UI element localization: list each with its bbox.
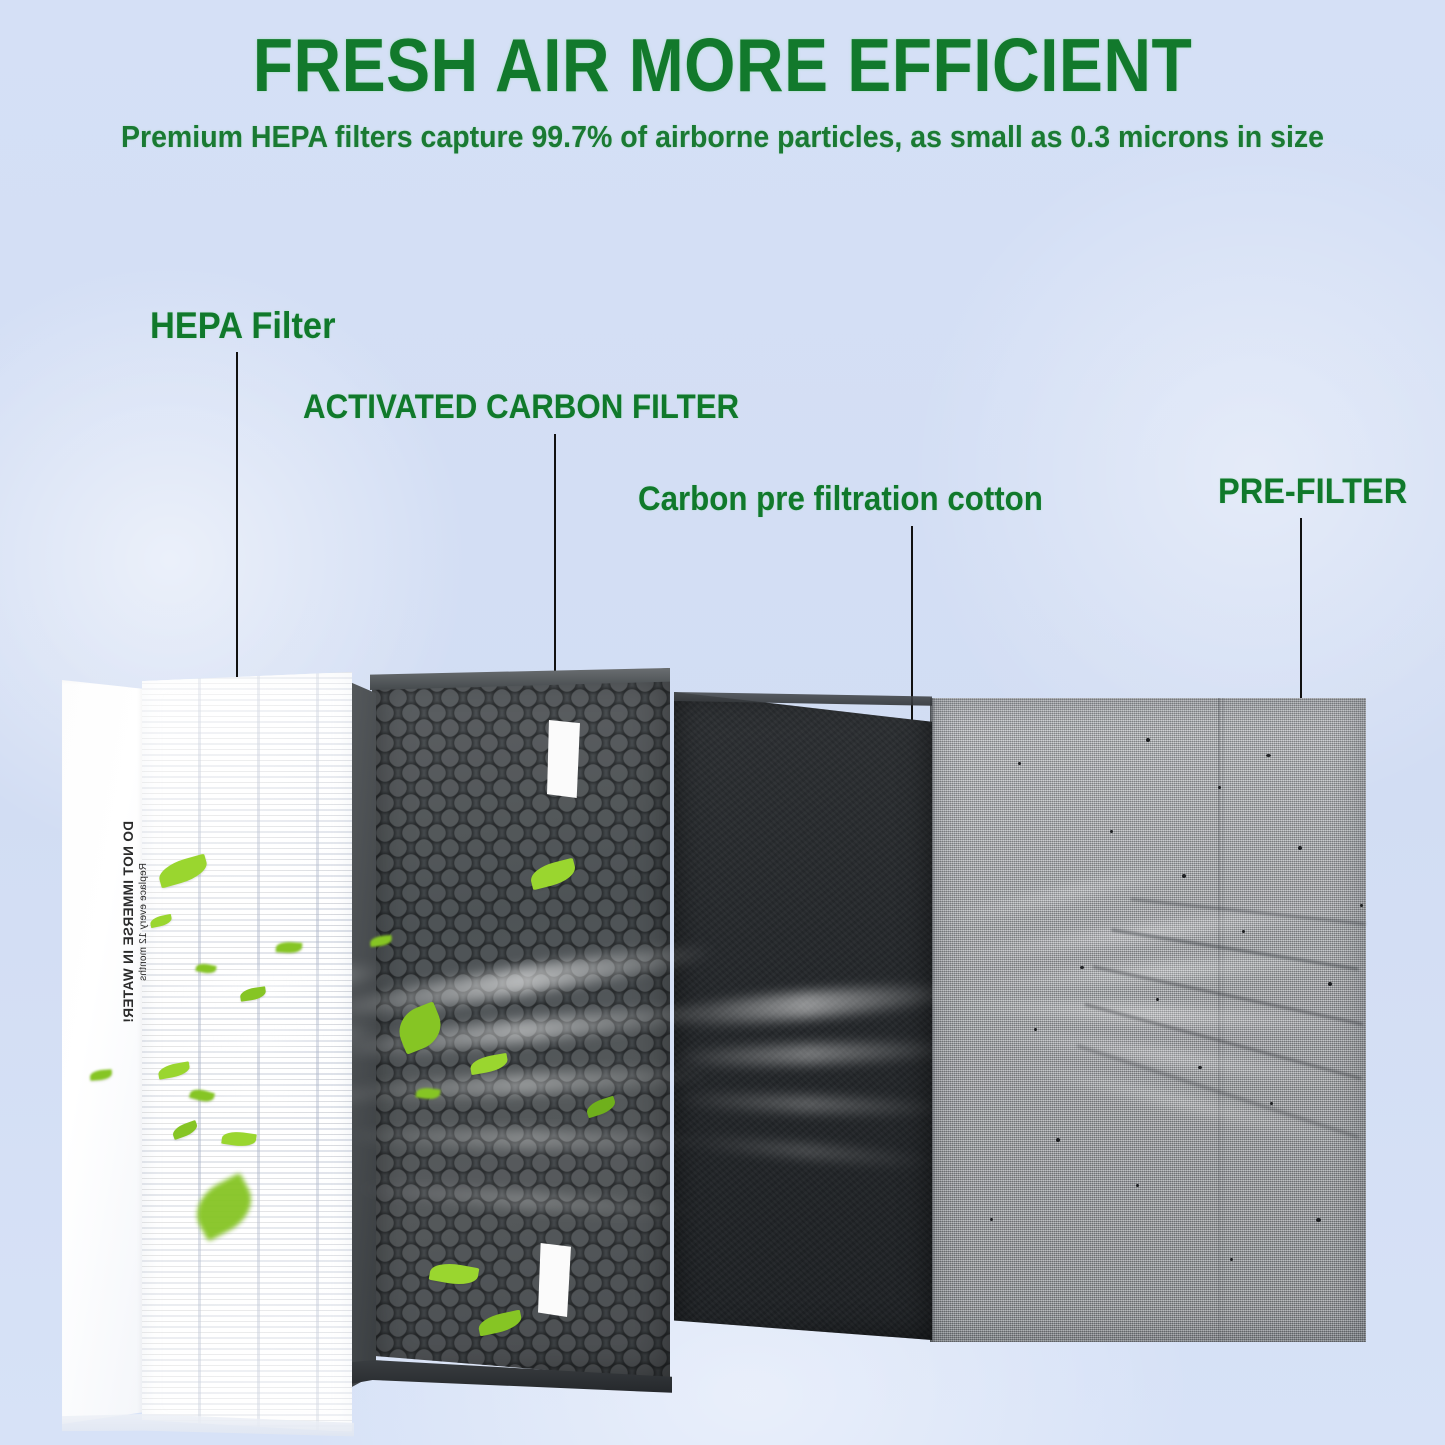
- hepa-highlight: [142, 672, 352, 1432]
- dust-speck: [1018, 762, 1021, 765]
- carbon-left-frame: [350, 682, 376, 1388]
- dust-speck: [1218, 786, 1221, 789]
- hepa-warning-text: DO NOT IMMERSE IN WATER!: [121, 797, 136, 1047]
- dust-speck: [1328, 982, 1332, 986]
- carbon-pull-tab: [538, 1243, 571, 1317]
- dust-speck: [1360, 904, 1363, 907]
- hepa-side-print: DO NOT IMMERSE IN WATER! Replace every 1…: [121, 797, 149, 1047]
- dust-speck: [1266, 754, 1271, 757]
- infographic-canvas: FRESH AIR MORE EFFICIENT Premium HEPA fi…: [0, 0, 1445, 1445]
- callout-label-hepa: HEPA Filter: [150, 305, 335, 347]
- callout-label-cotton: Carbon pre filtration cotton: [638, 480, 1043, 519]
- layer-carbon-cotton: [674, 692, 932, 1340]
- callout-label-prefilter: PRE-FILTER: [1218, 472, 1407, 512]
- prefilter-seam: [1218, 698, 1220, 1342]
- leader-line-hepa: [236, 352, 238, 678]
- dust-speck: [1034, 1028, 1037, 1031]
- dust-speck: [1156, 998, 1159, 1001]
- page-subtitle: Premium HEPA filters capture 99.7% of ai…: [58, 119, 1387, 155]
- dust-speck: [1056, 1138, 1060, 1142]
- layer-prefilter: [930, 698, 1366, 1342]
- hepa-side-panel: [62, 680, 144, 1424]
- dust-speck: [1080, 966, 1084, 969]
- leader-line-prefilter: [1300, 518, 1302, 698]
- prefilter-seam: [1222, 698, 1224, 1342]
- dust-speck: [1136, 1184, 1139, 1187]
- dust-speck: [990, 1218, 993, 1221]
- dust-speck: [1230, 1258, 1233, 1261]
- layer-activated-carbon: [350, 668, 670, 1408]
- dust-speck: [1110, 830, 1113, 833]
- dust-speck: [1198, 1066, 1202, 1069]
- page-title: FRESH AIR MORE EFFICIENT: [87, 22, 1359, 108]
- dust-speck: [1316, 1218, 1321, 1222]
- dust-speck: [1182, 874, 1186, 878]
- hepa-replace-text: Replace every 12 months: [138, 797, 149, 1047]
- callout-label-carbon: ACTIVATED CARBON FILTER: [303, 388, 739, 427]
- dust-speck: [1270, 1102, 1273, 1105]
- dust-speck: [1242, 930, 1245, 933]
- cotton-foam-surface: [674, 692, 932, 1340]
- dust-speck: [1298, 846, 1302, 850]
- carbon-pull-tab: [547, 720, 580, 798]
- dust-speck: [1146, 738, 1150, 742]
- layer-hepa-filter: DO NOT IMMERSE IN WATER! Replace every 1…: [62, 672, 352, 1432]
